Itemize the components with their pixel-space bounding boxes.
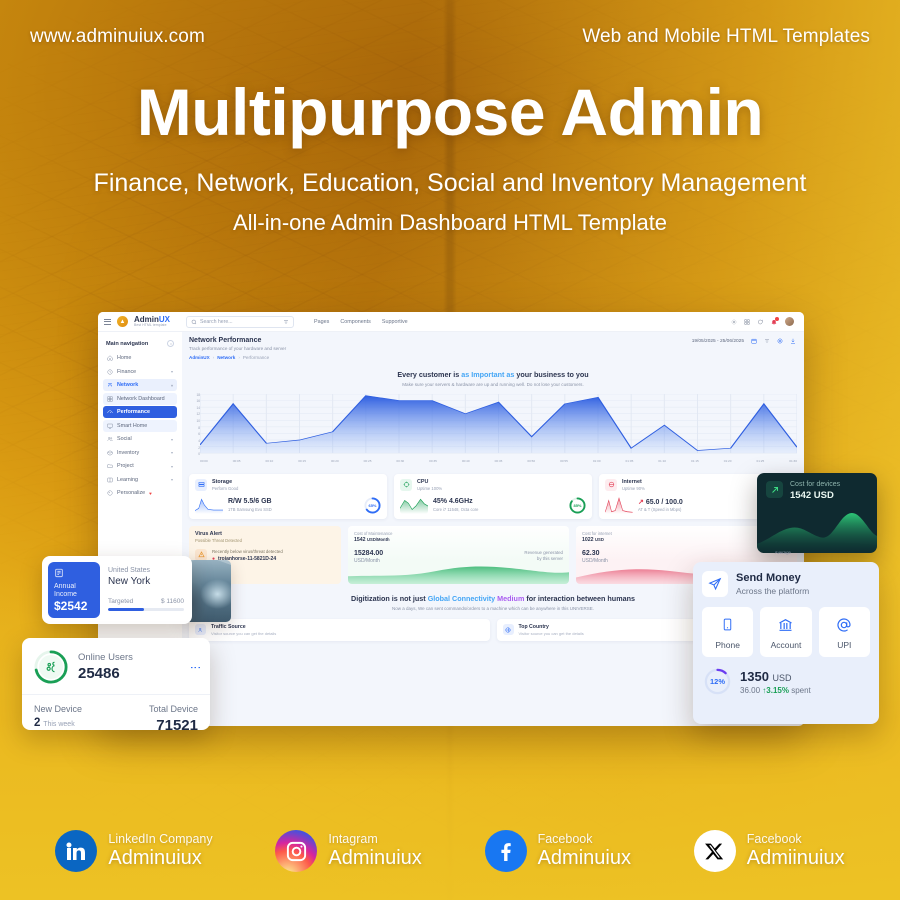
palette-icon xyxy=(107,490,113,496)
banner-top: Every customer is as Important as your b… xyxy=(189,370,797,387)
progress-ring: 65% xyxy=(364,497,381,514)
chart-y-axis: 0 2 4 6 8 10 12 14 16 18 xyxy=(189,394,200,466)
stat-value: 45% 4.6GHz xyxy=(433,498,478,505)
filter-icon[interactable] xyxy=(764,338,770,344)
x-tick: 01:10 xyxy=(658,459,666,463)
online-users-label: Online Users xyxy=(78,652,133,663)
brand-logo[interactable]: AdminUX Best HTML template xyxy=(134,316,170,327)
brightness-icon[interactable] xyxy=(731,319,737,325)
send-option-label: UPI xyxy=(837,640,851,650)
bank-icon xyxy=(777,616,794,633)
ring-percent: 65% xyxy=(364,497,381,514)
sparkline xyxy=(195,497,223,514)
send-currency: USD xyxy=(773,673,792,683)
cost-top-value: 1022 xyxy=(582,537,594,543)
facebook-icon xyxy=(485,830,527,872)
y-tick: 0 xyxy=(189,453,200,456)
home-icon xyxy=(107,355,113,361)
x-tick: 01:30 xyxy=(789,459,797,463)
at-icon xyxy=(836,616,852,633)
chevron-up-icon xyxy=(169,342,173,346)
y-tick: 6 xyxy=(189,433,200,436)
card-title: Traffic Source xyxy=(211,624,276,630)
social-handle: Adminuiux xyxy=(108,847,212,870)
breadcrumb: AdminUX › Network › Performance xyxy=(189,355,797,360)
clock-icon xyxy=(107,369,113,375)
sidebar-item-label: Home xyxy=(117,355,131,361)
new-device-note: This week xyxy=(43,721,75,728)
nav-item-supportive[interactable]: Supportive xyxy=(382,319,408,325)
bell-icon xyxy=(771,319,777,325)
x-tick: 00:40 xyxy=(462,459,470,463)
apps-grid-icon[interactable] xyxy=(744,319,750,325)
traffic-source-card[interactable]: Traffic Source Visitor source you can ge… xyxy=(189,619,490,641)
cost-for-devices-card[interactable]: Cost for devices 1542 USD xyxy=(757,473,877,553)
sidebar-item-performance[interactable]: Performance xyxy=(103,406,177,418)
annual-income-label: Annual Income xyxy=(54,583,94,599)
stat-caption: AT & T (Speed in Mbps) xyxy=(638,507,683,512)
trend-up-icon xyxy=(766,481,783,498)
social-label: Facebook xyxy=(747,832,845,846)
spent-value: 36.00 xyxy=(740,686,760,695)
breadcrumb-root[interactable]: AdminUX xyxy=(189,355,210,360)
spent-label: spent xyxy=(791,686,811,695)
social-footer: LinkedIn Company Adminuiux Intagram Admi… xyxy=(0,830,900,872)
target-progress-bar xyxy=(108,608,184,611)
header-tagline: Web and Mobile HTML Templates xyxy=(582,26,870,48)
breadcrumb-mid[interactable]: Network xyxy=(217,355,235,360)
spent-ring: 12% xyxy=(704,668,731,695)
social-label: Facebook xyxy=(538,832,631,846)
chat-icon[interactable] xyxy=(757,319,763,325)
stat-title: Internet xyxy=(622,479,645,485)
main-nav: Pages Components Supportive xyxy=(314,319,408,325)
banner-bottom-highlight2: Medium xyxy=(495,594,524,603)
card-title: Top Country xyxy=(519,624,584,630)
filter-icon[interactable] xyxy=(283,319,289,325)
spent-change: ↑3.15% xyxy=(762,686,789,695)
total-device-value: 71521 xyxy=(149,717,198,730)
devices-label: Cost for devices xyxy=(790,481,840,488)
x-tick: 01:25 xyxy=(756,459,764,463)
calendar-icon[interactable] xyxy=(751,338,757,344)
chart-x-axis: 00:0000:0500:1000:1500:2000:2500:3000:35… xyxy=(200,459,797,463)
sidebar-item-network-dashboard[interactable]: Network Dashboard xyxy=(103,393,177,405)
x-tick: 00:05 xyxy=(233,459,241,463)
stat-subtitle: Uptime 90% xyxy=(622,486,645,491)
stat-value: R/W 5.5/6 GB xyxy=(228,498,272,505)
search-placeholder: Search here... xyxy=(200,319,233,325)
sidebar-item-personalize[interactable]: Personalize ♥ xyxy=(103,487,177,499)
sidebar-item-label: Inventory xyxy=(117,450,139,456)
progress-ring: 85% xyxy=(569,497,586,514)
heart-icon: ♥ xyxy=(149,491,152,496)
sidebar-item-label: Learning xyxy=(117,477,138,483)
people-icon xyxy=(107,436,113,442)
nav-item-components[interactable]: Components xyxy=(340,319,371,325)
breadcrumb-separator: › xyxy=(238,355,240,360)
sidebar-item-network[interactable]: Network ▾ xyxy=(103,379,177,391)
x-tick: 00:25 xyxy=(364,459,372,463)
social-facebook[interactable]: Facebook Adminuiux xyxy=(485,830,631,872)
users-icon xyxy=(39,655,63,679)
online-users-value: 25486 xyxy=(78,665,133,682)
x-tick: 01:20 xyxy=(724,459,732,463)
alert-title: Virus Alert xyxy=(195,531,335,537)
social-instagram[interactable]: Intagram Adminuiux xyxy=(275,830,421,872)
card-subtitle: Visitor source you can get the details xyxy=(519,631,584,636)
grid-icon xyxy=(107,396,113,402)
sidebar-item-home[interactable]: Home xyxy=(103,352,177,364)
breadcrumb-separator: › xyxy=(213,355,215,360)
x-icon xyxy=(694,830,736,872)
x-tick: 00:00 xyxy=(200,459,208,463)
stat-card-cpu[interactable]: CPU Uptime 100% 45% 4.6GHz Core i7 11548… xyxy=(394,474,592,519)
date-range-value[interactable]: 19/05/2025 - 25/06/2025 xyxy=(692,339,744,344)
stat-caption: Core i7 11548, Octa core xyxy=(433,507,478,512)
devices-value: 1542 USD xyxy=(790,490,840,501)
annual-income-card[interactable]: Annual Income $2542 United States New Yo… xyxy=(42,556,192,624)
x-tick: 00:30 xyxy=(396,459,404,463)
sidebar-title: Main navigation xyxy=(103,338,177,352)
cost-big-value: 15284.00 xyxy=(354,550,383,557)
avatar[interactable] xyxy=(785,317,794,326)
calendar-icon xyxy=(54,568,64,578)
chevron-down-icon: ▾ xyxy=(171,477,173,482)
online-users-card[interactable]: Online Users 25486 ⋮ New Device 2 This w… xyxy=(22,638,210,730)
cost-maintenance-card[interactable]: Cost of Maintenance 1542 USD/Month 15284… xyxy=(348,526,569,584)
sidebar-item-social[interactable]: Social ▾ xyxy=(103,433,177,445)
chevron-down-icon: ▾ xyxy=(171,369,173,374)
page-title: Multipurpose Admin xyxy=(0,78,900,147)
nav-item-pages[interactable]: Pages xyxy=(314,319,329,325)
sidebar-item-label: Performance xyxy=(117,409,150,415)
gear-icon[interactable] xyxy=(777,338,783,344)
send-money-card[interactable]: Send Money Across the platform Phone Acc… xyxy=(693,562,879,724)
target-value: $ 11600 xyxy=(161,598,184,605)
topbar-icons xyxy=(731,317,798,326)
x-tick: 01:15 xyxy=(691,459,699,463)
total-device-label: Total Device xyxy=(149,704,198,714)
stat-card-storage[interactable]: Storage Perform Good R/W 5.5/6 GB 1TB Sa… xyxy=(189,474,387,519)
box-icon xyxy=(107,450,113,456)
people-icon xyxy=(195,624,206,635)
cost-unit: USD/Month xyxy=(582,558,608,564)
x-tick: 00:15 xyxy=(298,459,306,463)
annual-income-value: $2542 xyxy=(54,599,94,613)
main-page-subtitle: Track performance of your hardware and s… xyxy=(189,346,797,351)
x-tick: 00:55 xyxy=(560,459,568,463)
card-subtitle: Visitor source you can get the details xyxy=(211,631,276,636)
top-bar: www.adminuiux.com Web and Mobile HTML Te… xyxy=(0,26,900,48)
warning-icon xyxy=(195,549,207,561)
banner-top-sub: Make sure your servers & hardware are up… xyxy=(189,382,797,387)
social-handle: Admiinuiux xyxy=(747,847,845,870)
dashboard-topbar: ▲ AdminUX Best HTML template Search here… xyxy=(98,312,804,332)
search-input[interactable]: Search here... xyxy=(186,316,294,328)
folder-icon xyxy=(107,463,113,469)
search-icon xyxy=(191,319,197,325)
banner-top-part2: your business to you xyxy=(514,370,588,379)
site-url: www.adminuiux.com xyxy=(30,26,205,48)
breadcrumb-current: Performance xyxy=(243,355,269,360)
social-label: Intagram xyxy=(328,832,421,846)
stat-value-text: 65.0 / 100.0 xyxy=(646,499,683,506)
cost-big-value: 62.30 xyxy=(582,550,608,557)
cost-label: Cost of Maintenance xyxy=(354,531,563,536)
banner-top-part1: Every customer is xyxy=(397,370,461,379)
area-chart-svg xyxy=(200,394,797,457)
send-option-account[interactable]: Account xyxy=(760,607,811,657)
sidebar-item-label: Social xyxy=(117,436,132,442)
send-amount: 1350 xyxy=(740,669,769,684)
internet-icon xyxy=(605,479,617,491)
sparkline xyxy=(400,497,428,514)
y-tick: 4 xyxy=(189,440,200,443)
chevron-down-icon: ▾ xyxy=(171,437,173,442)
cost-top-unit: USD/Month xyxy=(367,537,390,542)
y-tick: 12 xyxy=(189,413,200,416)
ring-percent: 85% xyxy=(569,497,586,514)
menu-toggle-icon[interactable] xyxy=(104,319,111,325)
x-tick: 01:00 xyxy=(593,459,601,463)
sidebar-item-project[interactable]: Project ▾ xyxy=(103,460,177,472)
location-block: United States New York Targeted $ 11600 xyxy=(106,556,192,624)
social-handle: Adminuiux xyxy=(538,847,631,870)
y-tick: 8 xyxy=(189,427,200,430)
sidebar-item-learning[interactable]: Learning ▾ xyxy=(103,474,177,486)
y-tick: 14 xyxy=(189,407,200,410)
stat-value: ↗ 65.0 / 100.0 xyxy=(638,498,683,506)
sidebar-item-label: Finance xyxy=(117,369,136,375)
cpu-icon xyxy=(400,479,412,491)
social-handle: Adminuiux xyxy=(328,847,421,870)
sidebar-title-label: Main navigation xyxy=(106,341,148,347)
x-tick: 00:45 xyxy=(495,459,503,463)
collapse-icon[interactable] xyxy=(167,340,174,347)
hero-subtitle-2: All-in-one Admin Dashboard HTML Template xyxy=(0,210,900,236)
devices-area-chart xyxy=(757,507,877,553)
cost-top-value: 1542 xyxy=(354,537,366,543)
stat-caption: 1TB Samsung Evo SSD xyxy=(228,507,272,512)
spent-percent: 12% xyxy=(704,668,731,695)
chart-plot-area: 00:0000:0500:1000:1500:2000:2500:3000:35… xyxy=(200,394,797,466)
performance-chart: 0 2 4 6 8 10 12 14 16 18 xyxy=(189,394,797,466)
social-linkedin[interactable]: LinkedIn Company Adminuiux xyxy=(55,830,212,872)
alert-line-1: Recently below virus/threat detected xyxy=(212,549,283,554)
target-label: Targeted xyxy=(108,598,133,605)
stat-subtitle: Uptime 100% xyxy=(417,486,442,491)
sidebar-item-smart-home[interactable]: Smart Home xyxy=(103,420,177,432)
brand-subtitle: Best HTML template xyxy=(134,324,170,327)
banner-top-highlight: as Important as xyxy=(461,370,514,379)
sparkline xyxy=(605,497,633,514)
cost-unit: USD/Month xyxy=(354,558,383,564)
send-money-title: Send Money xyxy=(736,572,809,584)
send-option-label: Phone xyxy=(715,640,740,650)
social-label: LinkedIn Company xyxy=(108,832,212,846)
send-icon xyxy=(702,571,728,597)
monitor-icon xyxy=(107,423,113,429)
send-option-label: Account xyxy=(771,640,802,650)
sidebar-item-label: Network Dashboard xyxy=(117,396,165,402)
x-tick: 00:20 xyxy=(331,459,339,463)
storage-icon xyxy=(195,479,207,491)
linkedin-icon xyxy=(55,830,97,872)
send-option-phone[interactable]: Phone xyxy=(702,607,753,657)
sidebar-item-finance[interactable]: Finance ▾ xyxy=(103,366,177,378)
stat-cards-row: Storage Perform Good R/W 5.5/6 GB 1TB Sa… xyxy=(189,474,797,519)
cost-note: Revenue generated by this server xyxy=(524,550,563,564)
alert-subtitle: Possible Threat Detected xyxy=(195,538,335,543)
chevron-down-icon: ▾ xyxy=(171,450,173,455)
book-icon xyxy=(107,477,113,483)
download-icon[interactable] xyxy=(790,338,796,344)
x-tick: 00:10 xyxy=(265,459,273,463)
notification-bell-icon[interactable] xyxy=(770,318,778,326)
x-tick: 01:05 xyxy=(626,459,634,463)
network-icon xyxy=(107,382,113,388)
sidebar-item-inventory[interactable]: Inventory ▾ xyxy=(103,447,177,459)
sidebar-item-label: Project xyxy=(117,463,134,469)
send-money-subtitle: Across the platform xyxy=(736,586,809,596)
stat-subtitle: Perform Good xyxy=(212,486,238,491)
y-tick: 2 xyxy=(189,447,200,450)
y-tick: 18 xyxy=(189,394,200,397)
trend-up-icon: ↗ xyxy=(638,499,644,506)
online-users-ring xyxy=(34,650,68,684)
more-options-icon[interactable]: ⋮ xyxy=(191,662,198,673)
hero: Multipurpose Admin Finance, Network, Edu… xyxy=(0,78,900,236)
chevron-down-icon: ▾ xyxy=(171,464,173,469)
date-range-toolbar: 19/05/2025 - 25/06/2025 xyxy=(692,338,796,344)
stat-title: CPU xyxy=(417,479,442,485)
cost-top-unit: USD xyxy=(595,537,604,542)
country-label: United States xyxy=(108,567,184,574)
banner-bottom-part2: for interaction between humans xyxy=(524,594,635,603)
globe-icon xyxy=(503,624,514,635)
y-tick: 16 xyxy=(189,400,200,403)
annual-income-tile: Annual Income $2542 xyxy=(48,562,100,618)
new-device-label: New Device xyxy=(34,704,82,714)
phone-icon xyxy=(721,616,734,633)
send-option-upi[interactable]: UPI xyxy=(819,607,870,657)
banner-bottom-part1: Digitization is not just xyxy=(351,594,428,603)
social-x[interactable]: Facebook Admiinuiux xyxy=(694,830,845,872)
new-device-value: 2 xyxy=(34,717,40,729)
hero-subtitle-1: Finance, Network, Education, Social and … xyxy=(0,169,900,198)
sidebar-item-label: Personalize xyxy=(117,490,145,496)
brand-logo-icon: ▲ xyxy=(117,316,128,327)
x-tick: 00:50 xyxy=(527,459,535,463)
instagram-icon xyxy=(275,830,317,872)
city-label: New York xyxy=(108,576,184,587)
x-tick: 00:35 xyxy=(429,459,437,463)
y-tick: 10 xyxy=(189,420,200,423)
sidebar-item-label: Smart Home xyxy=(117,423,147,429)
chevron-down-icon: ▾ xyxy=(171,383,173,388)
speedometer-icon xyxy=(107,409,113,415)
stat-title: Storage xyxy=(212,479,238,485)
banner-bottom-highlight1: Global Connectivity xyxy=(428,594,496,603)
sidebar-item-label: Network xyxy=(117,382,138,388)
cost-note: Average xyxy=(775,550,791,564)
